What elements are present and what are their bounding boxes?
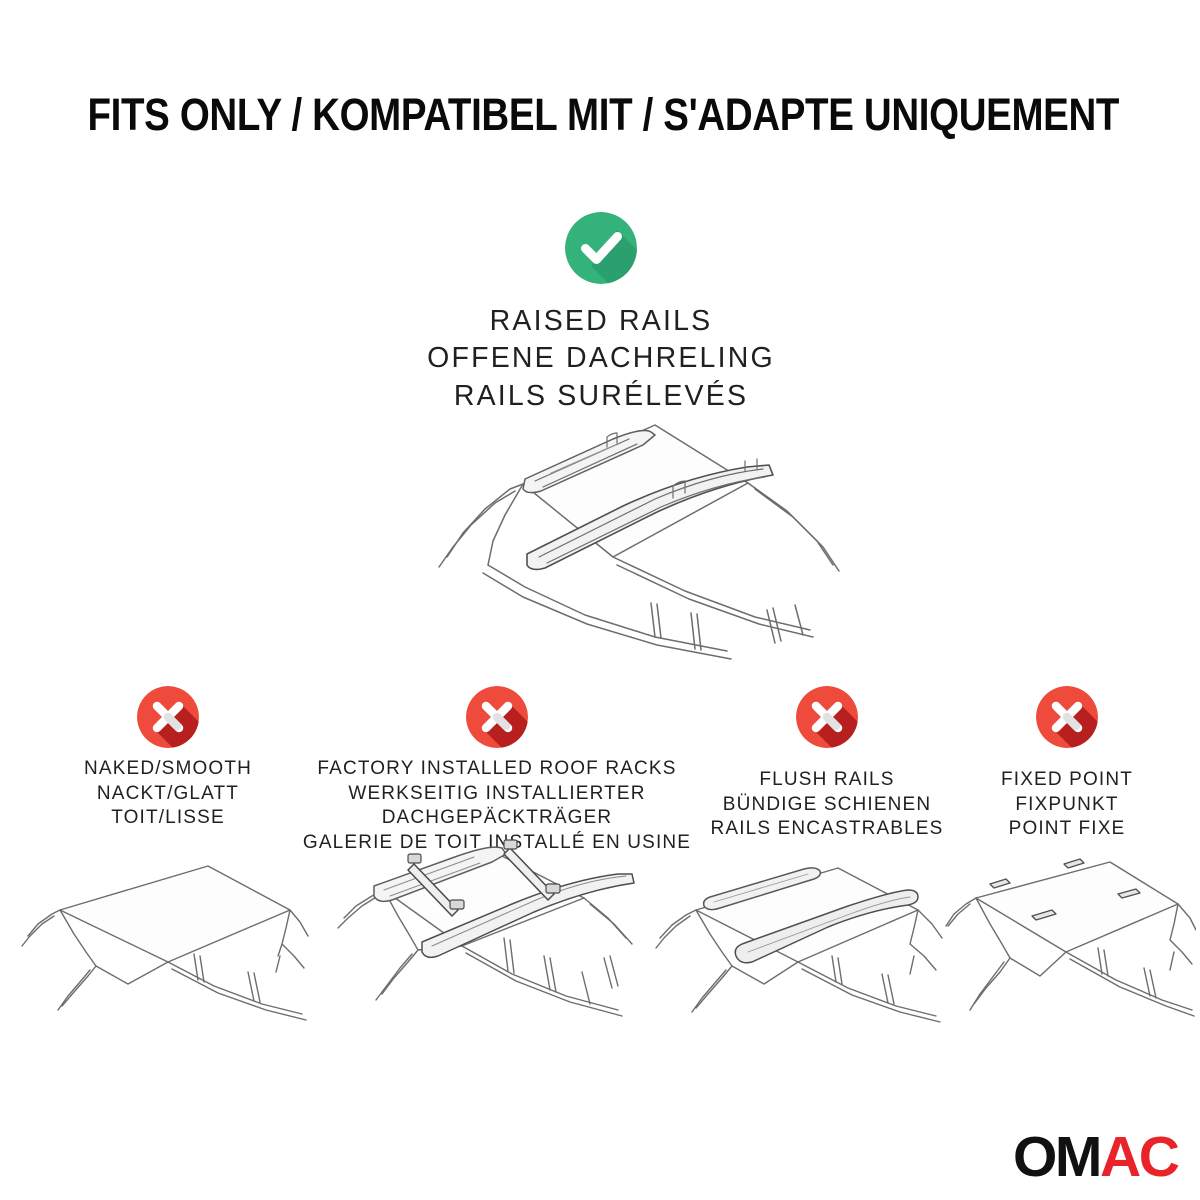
logo-text-dark: OM	[1013, 1125, 1100, 1189]
car-roof-raised-rails-illustration	[355, 405, 855, 670]
incompatible-label-line: WERKSEITIG INSTALLIERTER	[300, 782, 694, 807]
compatibility-infographic: FITS ONLY / KOMPATIBEL MIT / S'ADAPTE UN…	[0, 0, 1200, 1200]
incompatible-label-line: FLUSH RAILS	[678, 768, 976, 793]
incompatible-label-line: FIXED POINT	[962, 768, 1172, 793]
omac-logo: OMAC	[1013, 1128, 1178, 1186]
incompatible-label-fixed-point: FIXED POINT FIXPUNKT POINT FIXE	[962, 768, 1172, 842]
page-title-text: FITS ONLY / KOMPATIBEL MIT / S'ADAPTE UN…	[87, 92, 1119, 137]
incompatible-label-line: TOIT/LISSE	[18, 806, 318, 831]
compatible-label-line-1: RAISED RAILS	[301, 303, 901, 340]
incompatible-label-line: FIXPUNKT	[962, 793, 1172, 818]
x-circle-icon	[796, 686, 858, 748]
incompatible-label-line: FACTORY INSTALLED ROOF RACKS	[300, 757, 694, 782]
incompatible-label-flush-rails: FLUSH RAILS BÜNDIGE SCHIENEN RAILS ENCAS…	[678, 768, 976, 842]
incompatible-label-line: NAKED/SMOOTH	[18, 757, 318, 782]
incompatible-label-naked-smooth: NAKED/SMOOTH NACKT/GLATT TOIT/LISSE	[18, 757, 318, 831]
incompatible-label-line: DACHGEPÄCKTRÄGER	[300, 806, 694, 831]
page-title: FITS ONLY / KOMPATIBEL MIT / S'ADAPTE UN…	[0, 92, 1200, 137]
incompatible-label-line: BÜNDIGE SCHIENEN	[678, 793, 976, 818]
x-circle-icon	[1036, 686, 1098, 748]
incompatible-label-line: RAILS ENCASTRABLES	[678, 817, 976, 842]
compatible-label: RAISED RAILS OFFENE DACHRELING RAILS SUR…	[301, 303, 901, 415]
car-roof-flush-rails-illustration	[652, 852, 948, 1042]
logo-text-accent: AC	[1100, 1125, 1178, 1189]
x-circle-icon	[466, 686, 528, 748]
x-circle-icon	[137, 686, 199, 748]
car-roof-fixed-point-illustration	[944, 852, 1196, 1042]
compatible-label-line-2: OFFENE DACHRELING	[301, 340, 901, 377]
incompatible-label-line: POINT FIXE	[962, 817, 1172, 842]
car-roof-naked-smooth-illustration	[18, 852, 318, 1042]
car-roof-factory-roof-racks-illustration	[322, 838, 658, 1043]
incompatible-label-line: NACKT/GLATT	[18, 782, 318, 807]
check-circle-icon	[565, 212, 637, 284]
